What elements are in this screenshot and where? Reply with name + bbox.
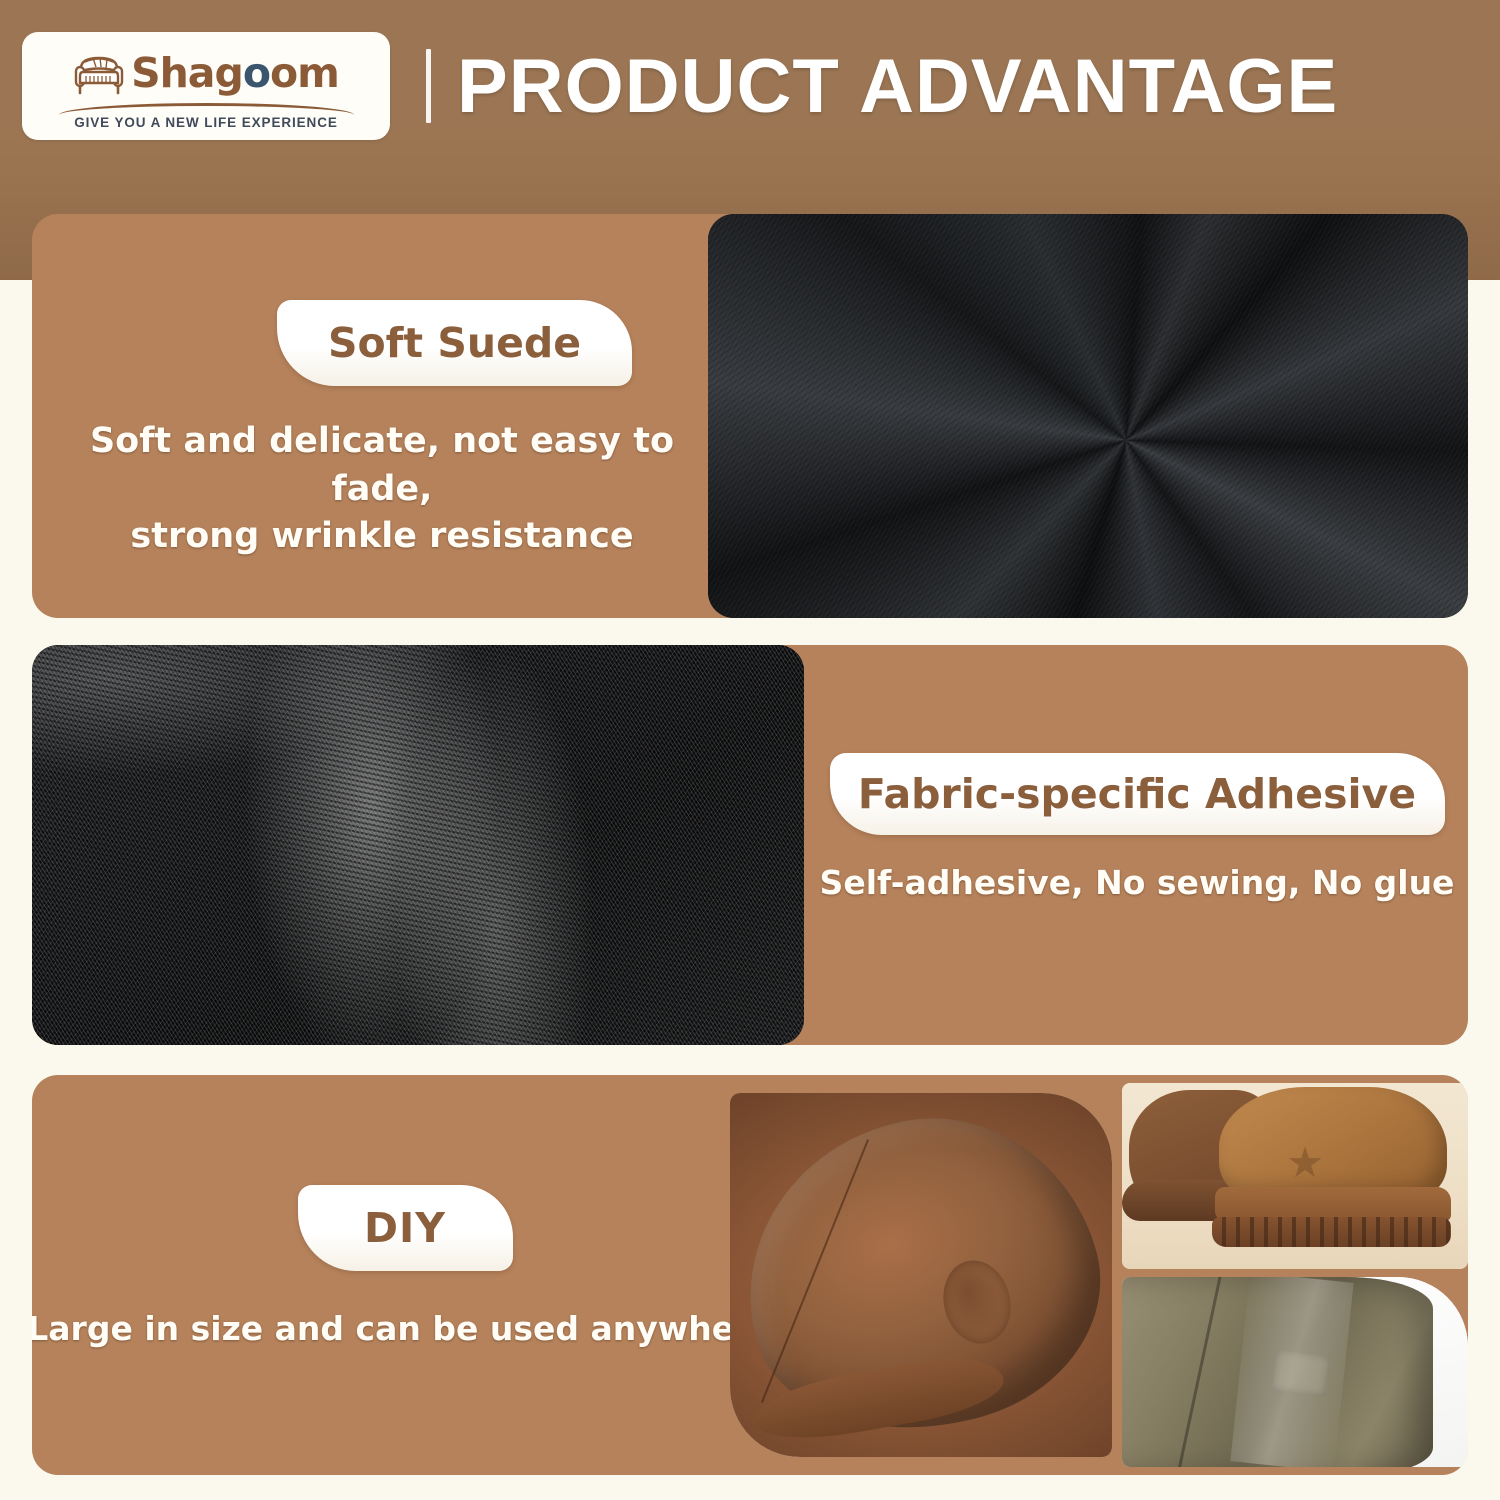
platform-slipper-image — [1122, 1083, 1468, 1269]
diy-label: DIY — [364, 1208, 446, 1249]
gallery-item-olive-fabric — [1122, 1277, 1468, 1467]
olive-fabric-sheen — [1230, 1277, 1353, 1467]
soft-suede-description-line-1: Soft and delicate, not easy to fade, — [72, 418, 692, 513]
header-divider — [426, 49, 431, 123]
advantage-panel-diy: DIY Large in size and can be used anywhe… — [32, 1075, 1468, 1475]
brand-wordmark: Shagoom — [131, 53, 339, 94]
diy-description: Large in size and can be used anywhere — [32, 1309, 773, 1348]
diy-gallery — [730, 1075, 1468, 1475]
gallery-item-platform-slippers — [1122, 1083, 1468, 1269]
brand-logo[interactable]: Shagoom GIVE YOU A NEW LIFE EXPERIENCE — [22, 32, 390, 140]
brand-text-a: Shag — [131, 49, 243, 97]
soft-suede-text-column: Soft Suede Soft and delicate, not easy t… — [52, 300, 712, 561]
diy-label-pill: DIY — [298, 1185, 513, 1271]
sofa-icon — [73, 48, 125, 98]
dark-adhesive-fuzz-texture — [32, 645, 804, 1045]
flat-cap-image — [730, 1093, 1112, 1457]
slipper-platform — [1215, 1187, 1450, 1220]
advantage-panel-adhesive: Fabric-specific Adhesive Self-adhesive, … — [32, 645, 1468, 1045]
brand-eye-icon: o — [243, 49, 270, 97]
soft-suede-label-pill: Soft Suede — [277, 300, 632, 386]
logo-underline — [59, 103, 354, 112]
gallery-item-flat-cap — [730, 1093, 1112, 1457]
slipper-tread-sole — [1212, 1217, 1451, 1247]
page-title: PRODUCT ADVANTAGE — [457, 43, 1338, 130]
brand-text-b: o — [270, 49, 297, 97]
diy-text-column: DIY Large in size and can be used anywhe… — [50, 1185, 750, 1348]
adhesive-backing-image — [32, 645, 804, 1045]
soft-suede-fabric-image — [708, 214, 1468, 618]
olive-fabric-image — [1122, 1277, 1468, 1467]
brand-text-c: m — [297, 49, 339, 97]
advantage-panel-soft-suede: Soft Suede Soft and delicate, not easy t… — [32, 214, 1468, 618]
slipper-front-upper — [1219, 1087, 1447, 1199]
adhesive-text-column: Fabric-specific Adhesive Self-adhesive, … — [812, 753, 1462, 902]
adhesive-label-pill: Fabric-specific Adhesive — [830, 753, 1445, 835]
adhesive-label: Fabric-specific Adhesive — [858, 774, 1416, 815]
black-suede-swirl-texture — [708, 214, 1468, 618]
soft-suede-description-line-2: strong wrinkle resistance — [72, 513, 692, 561]
logo-row: Shagoom — [73, 44, 339, 102]
soft-suede-label: Soft Suede — [328, 323, 581, 364]
header: Shagoom GIVE YOU A NEW LIFE EXPERIENCE P… — [0, 0, 1500, 172]
soft-suede-description: Soft and delicate, not easy to fade, str… — [72, 418, 692, 561]
brand-tagline: GIVE YOU A NEW LIFE EXPERIENCE — [74, 115, 338, 130]
adhesive-description: Self-adhesive, No sewing, No glue — [820, 863, 1455, 902]
